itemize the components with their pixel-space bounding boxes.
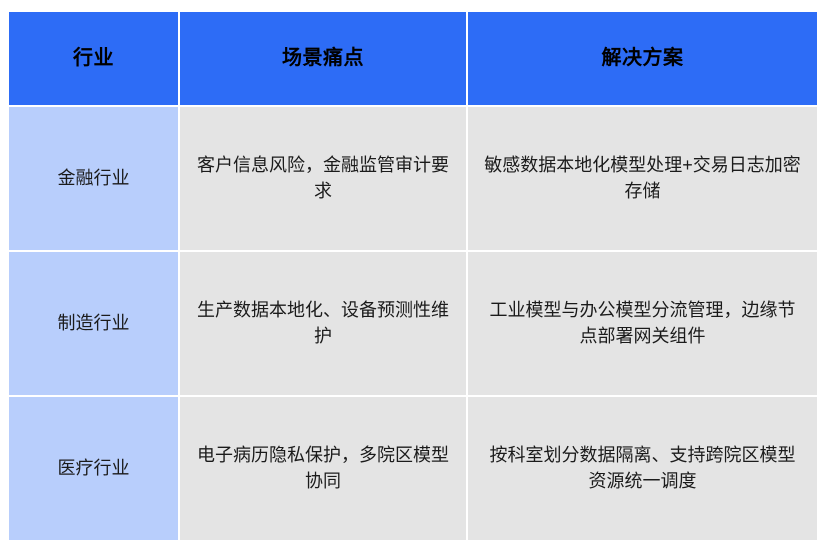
cell-industry: 金融行业 [9,107,178,250]
table-row: 制造行业 生产数据本地化、设备预测性维护 工业模型与办公模型分流管理，边缘节点部… [9,252,817,395]
cell-painpoint: 客户信息风险，金融监管审计要求 [180,107,466,250]
table-header: 行业 场景痛点 解决方案 [9,12,817,105]
cell-painpoint: 电子病历隐私保护，多院区模型协同 [180,397,466,540]
column-header-painpoint: 场景痛点 [180,12,466,105]
table-body: 金融行业 客户信息风险，金融监管审计要求 敏感数据本地化模型处理+交易日志加密存… [9,107,817,540]
cell-solution: 工业模型与办公模型分流管理，边缘节点部署网关组件 [468,252,817,395]
column-header-industry: 行业 [9,12,178,105]
cell-industry: 制造行业 [9,252,178,395]
cell-solution: 敏感数据本地化模型处理+交易日志加密存储 [468,107,817,250]
solution-table-container: 行业 场景痛点 解决方案 金融行业 客户信息风险，金融监管审计要求 敏感数据本地… [7,10,817,533]
table-row: 金融行业 客户信息风险，金融监管审计要求 敏感数据本地化模型处理+交易日志加密存… [9,107,817,250]
industry-solution-table: 行业 场景痛点 解决方案 金融行业 客户信息风险，金融监管审计要求 敏感数据本地… [7,10,819,542]
table-header-row: 行业 场景痛点 解决方案 [9,12,817,105]
cell-solution: 按科室划分数据隔离、支持跨院区模型资源统一调度 [468,397,817,540]
cell-industry: 医疗行业 [9,397,178,540]
column-header-solution: 解决方案 [468,12,817,105]
cell-painpoint: 生产数据本地化、设备预测性维护 [180,252,466,395]
table-row: 医疗行业 电子病历隐私保护，多院区模型协同 按科室划分数据隔离、支持跨院区模型资… [9,397,817,540]
